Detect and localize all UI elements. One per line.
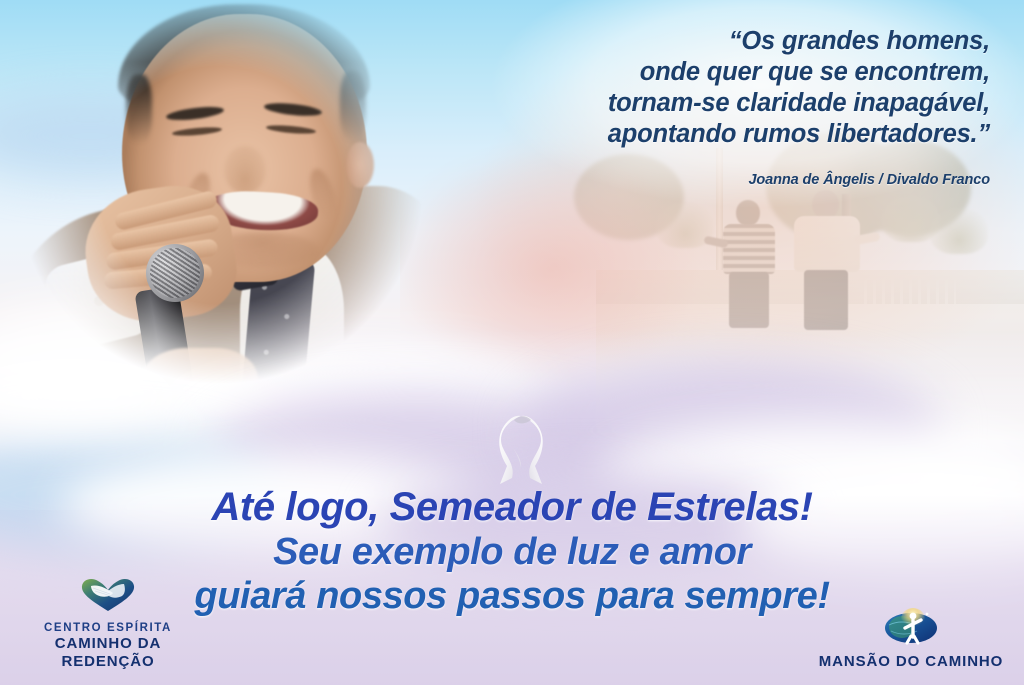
quote-line-3: tornam-se claridade inapagável, — [430, 88, 990, 119]
quote-attribution: Joanna de Ângelis / Divaldo Franco — [430, 172, 990, 188]
quote-line-1: “Os grandes homens, — [430, 26, 990, 57]
memorial-poster: “Os grandes homens, onde quer que se enc… — [0, 0, 1024, 685]
nose — [224, 146, 266, 194]
sideburn-left — [126, 74, 152, 144]
heart-clasped-hands-icon — [8, 577, 208, 618]
quote-line-4: apontando rumos libertadores.” — [430, 119, 990, 150]
quote-line-2: onde quer que se encontrem, — [430, 57, 990, 88]
sideburn-right — [340, 70, 366, 142]
logo-mansao-do-caminho: MANSÃO DO CAMINHO — [806, 607, 1016, 671]
logo-left-line-2: CAMINHO DA REDENÇÃO — [8, 635, 208, 671]
headline-line-2: Seu exemplo de luz e amor — [0, 530, 1024, 574]
logo-left-line-1: CENTRO ESPÍRITA — [8, 621, 208, 635]
quote-text: “Os grandes homens, onde quer que se enc… — [430, 26, 990, 150]
logo-centro-espirita-caminho-da-redencao: CENTRO ESPÍRITA CAMINHO DA REDENÇÃO — [8, 577, 208, 671]
hand-holding-microphone — [140, 348, 258, 434]
ear-right — [346, 142, 374, 188]
logo-right-line-1: MANSÃO DO CAMINHO — [806, 653, 1016, 671]
portrait-photo — [0, 0, 464, 426]
globe-figure-light-icon — [806, 607, 1016, 650]
white-mourning-ribbon-icon — [484, 406, 558, 488]
headline-line-1: Até logo, Semeador de Estrelas! — [0, 484, 1024, 530]
